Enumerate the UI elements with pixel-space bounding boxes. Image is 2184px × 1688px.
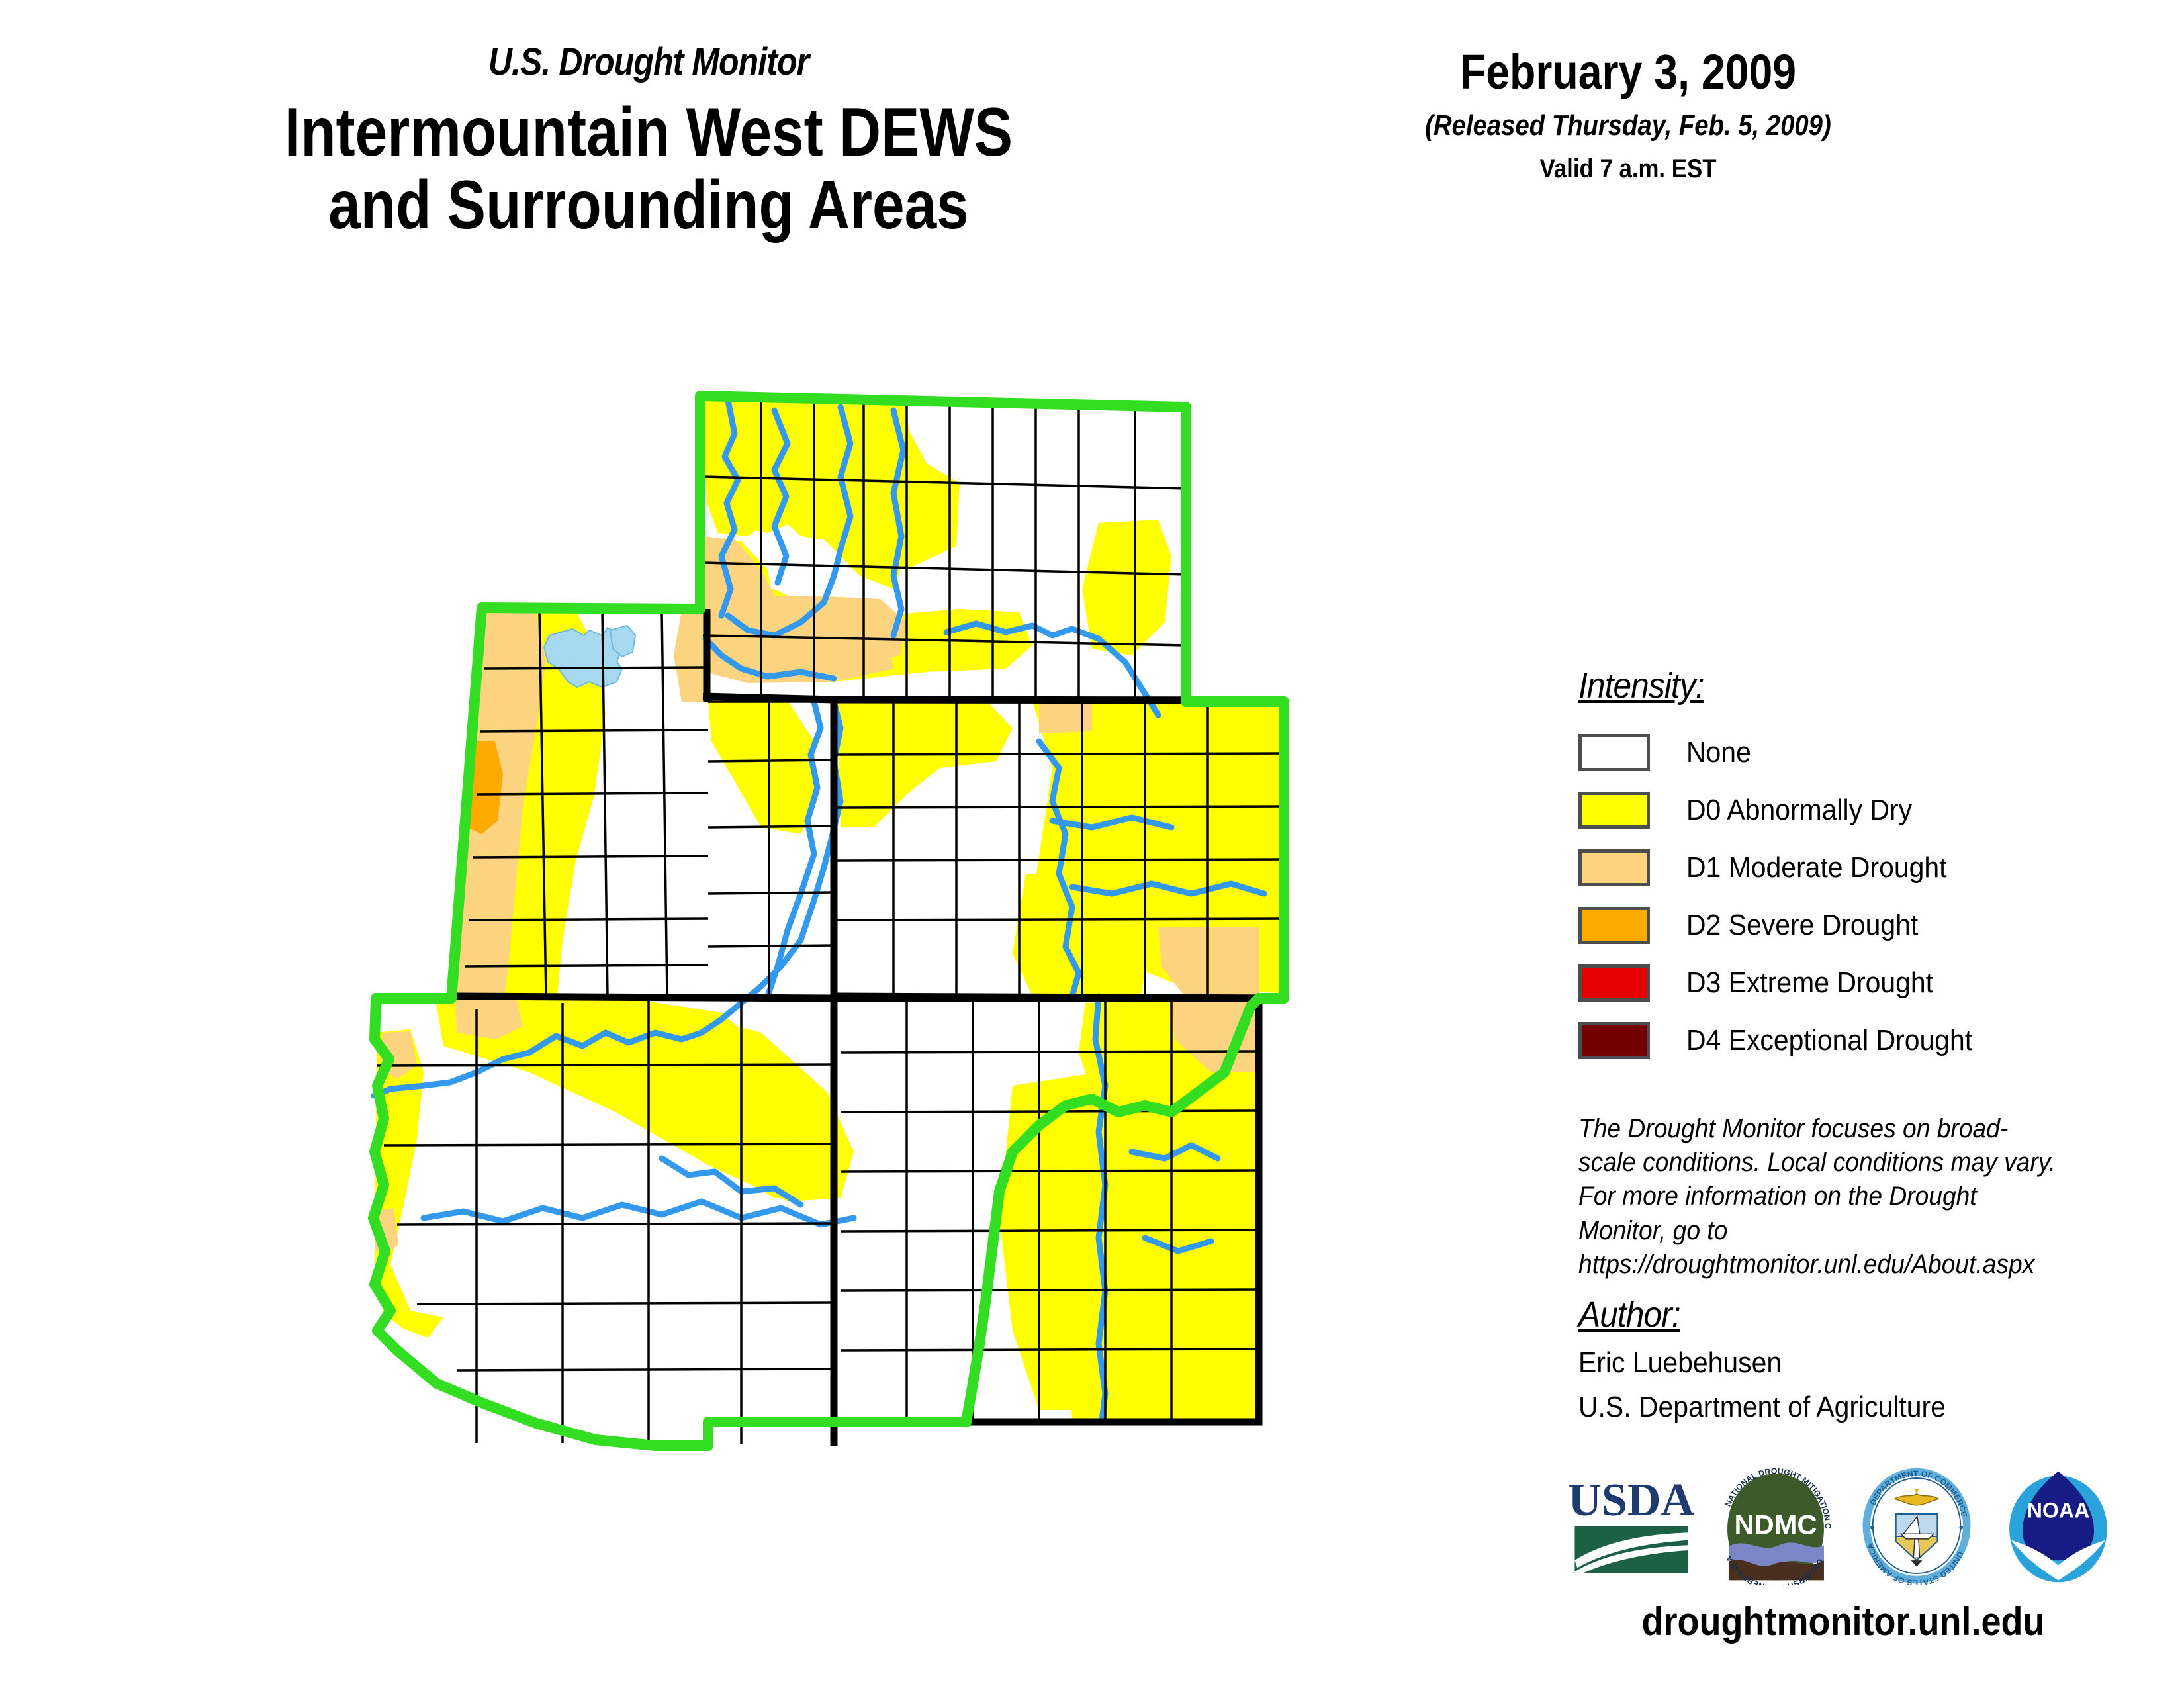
legend-label-d0: D0 Abnormally Dry <box>1686 794 1912 827</box>
map-date: February 3, 2009 <box>1340 44 1916 100</box>
legend-item-d1: D1 Moderate Drought <box>1578 839 2108 896</box>
ndmc-logo-text: NDMC <box>1734 1509 1817 1540</box>
author-affiliation: U.S. Department of Agriculture <box>1578 1391 2071 1424</box>
site-url: droughtmonitor.unl.edu <box>1596 1599 2091 1644</box>
legend-swatch-d1 <box>1578 849 1650 886</box>
noaa-logo-text: NOAA <box>2027 1499 2090 1523</box>
legend-label-d2: D2 Severe Drought <box>1686 909 1918 942</box>
legend-swatch-none <box>1578 734 1650 771</box>
legend-item-d2: D2 Severe Drought <box>1578 896 2108 954</box>
title-block: U.S. Drought Monitor Intermountain West … <box>0 40 1297 242</box>
page-title: Intermountain West DEWS and Surrounding … <box>104 96 1193 242</box>
legend-item-d4: D4 Exceptional Drought <box>1578 1011 2108 1069</box>
legend-swatch-d3 <box>1578 964 1650 1002</box>
page-title-line2: and Surrounding Areas <box>104 169 1193 242</box>
legend-item-d0: D0 Abnormally Dry <box>1578 781 2108 839</box>
release-date: (Released Thursday, Feb. 5, 2009) <box>1340 109 1916 142</box>
page-title-line1: Intermountain West DEWS <box>104 96 1193 169</box>
drought-map-svg <box>311 371 1291 1562</box>
disclaimer-text: The Drought Monitor focuses on broad-sca… <box>1578 1112 2065 1282</box>
page-subtitle: U.S. Drought Monitor <box>91 40 1206 84</box>
legend-label-d4: D4 Exceptional Drought <box>1686 1024 1972 1057</box>
noaa-logo: NOAA <box>1999 1466 2118 1585</box>
legend-panel: Intensity: None D0 Abnormally Dry D1 Mod… <box>1578 665 2108 1069</box>
legend-swatch-d4 <box>1578 1022 1650 1059</box>
ndmc-logo: NDMC NATIONAL DROUGHT MITIGATION CENTER … <box>1716 1466 1835 1585</box>
author-block: Author: Eric Luebehusen U.S. Department … <box>1578 1294 2108 1424</box>
legend-label-none: None <box>1686 736 1751 769</box>
legend-label-d1: D1 Moderate Drought <box>1686 851 1947 884</box>
author-name: Eric Luebehusen <box>1578 1346 2071 1380</box>
drought-map <box>311 371 1291 1562</box>
valid-time: Valid 7 a.m. EST <box>1340 154 1916 184</box>
legend-swatch-d2 <box>1578 907 1650 944</box>
legend-item-none: None <box>1578 724 2108 781</box>
legend-label-d3: D3 Extreme Drought <box>1686 966 1933 1000</box>
legend-title: Intensity: <box>1578 665 1704 706</box>
legend-item-d3: D3 Extreme Drought <box>1578 954 2108 1011</box>
usda-logo: USDA <box>1569 1466 1694 1585</box>
legend-swatch-d0 <box>1578 792 1650 829</box>
logo-row: USDA NDMC NATIONAL DROUGHT MITIGATION CE… <box>1569 1460 2118 1592</box>
department-of-commerce-seal: DEPARTMENT OF COMMERCE UNITED STATES OF … <box>1857 1466 1976 1585</box>
author-heading: Author: <box>1578 1294 1680 1335</box>
usda-logo-text: USDA <box>1569 1475 1694 1526</box>
date-block: February 3, 2009 (Released Thursday, Feb… <box>1297 44 1959 184</box>
